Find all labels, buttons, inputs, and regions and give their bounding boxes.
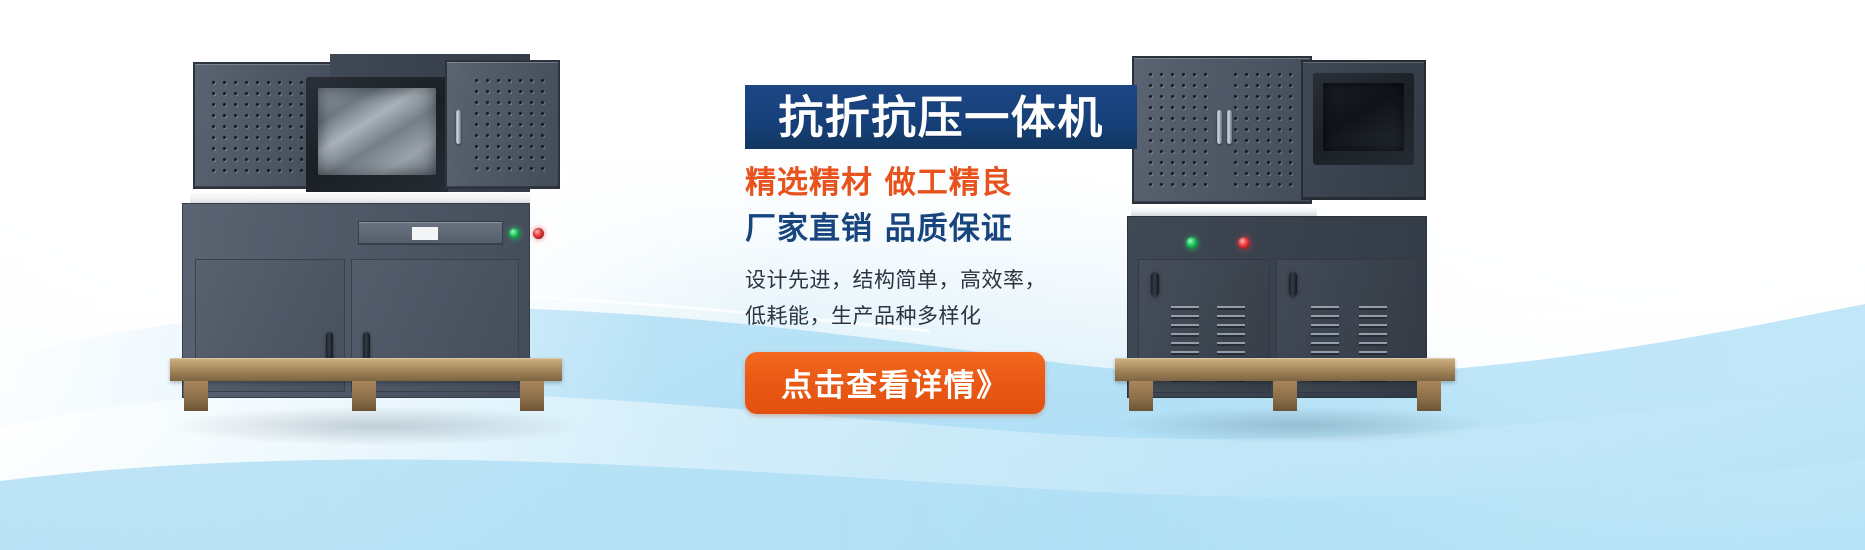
- left-lower-door-handle-right: [363, 332, 370, 360]
- promo-banner: 抗折抗压一体机 精选精材 做工精良 厂家直销 品质保证 设计先进，结构简单，高效…: [0, 0, 1865, 550]
- left-control-drawer: [358, 221, 503, 245]
- left-power-on-indicator[interactable]: [509, 228, 520, 239]
- right-pallet-leg-c: [1417, 381, 1441, 411]
- left-lower-door-handle-left: [326, 332, 333, 360]
- left-perforation-pattern-a: [208, 77, 303, 174]
- left-perforated-door-upper-right: [445, 60, 560, 189]
- left-machine-shadow: [166, 406, 586, 446]
- left-wooden-pallet: [170, 358, 562, 381]
- left-power-off-indicator[interactable]: [533, 228, 544, 239]
- tagline-orange: 精选精材 做工精良: [745, 164, 1265, 203]
- left-monitor-screen: [318, 88, 436, 175]
- banner-copy-block: 抗折抗压一体机 精选精材 做工精良 厂家直销 品质保证 设计先进，结构简单，高效…: [745, 60, 1265, 414]
- view-details-button[interactable]: 点击查看详情》: [745, 352, 1045, 414]
- left-perforation-pattern-b: [471, 75, 547, 174]
- headline-banner: 抗折抗压一体机: [745, 85, 1137, 149]
- left-drawer-label: [412, 227, 438, 240]
- tagline-navy: 厂家直销 品质保证: [745, 210, 1265, 249]
- headline-text: 抗折抗压一体机: [778, 95, 1104, 140]
- left-door-handle-b: [456, 110, 461, 144]
- description-line-2: 低耗能，生产品种多样化: [745, 298, 1265, 334]
- left-pallet-leg-c: [520, 381, 544, 411]
- product-image-left: [160, 40, 590, 440]
- left-pallet-leg-b: [352, 381, 376, 411]
- right-pallet-leg-b: [1273, 381, 1297, 411]
- right-monitor-screen: [1323, 83, 1404, 151]
- right-lower-door-handle-right: [1289, 272, 1297, 296]
- left-pallet-leg-a: [184, 381, 208, 411]
- description-line-1: 设计先进，结构简单，高效率，: [745, 262, 1265, 298]
